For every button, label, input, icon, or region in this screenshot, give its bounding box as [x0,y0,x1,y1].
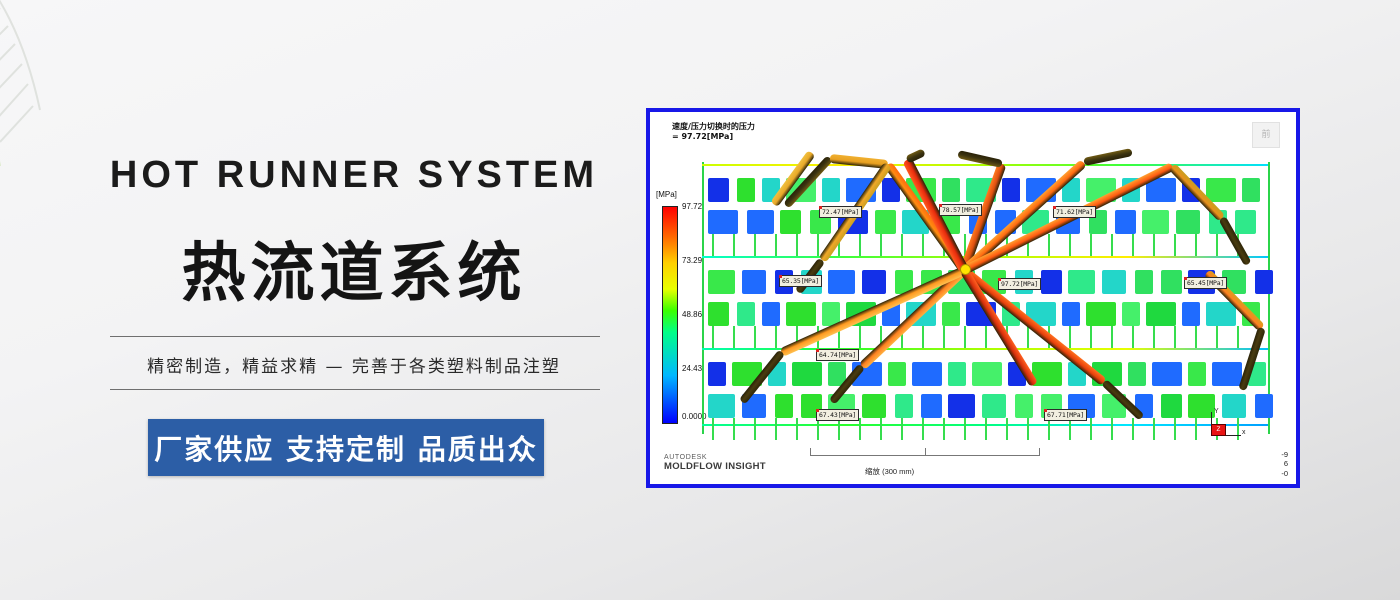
runner-stem [880,418,882,440]
cavity-part [942,302,960,326]
runner-stem [754,326,756,348]
runner-stem [1153,234,1155,256]
runner-stem [796,234,798,256]
cavity-part [982,394,1006,418]
runner-stem [922,234,924,256]
cavity-part [1122,302,1140,326]
runner-stem [733,234,735,256]
axis-label-x: x [1242,429,1246,436]
cavity-part [1255,394,1273,418]
axis-label-y: Y [1214,408,1219,415]
cavity-part [762,302,780,326]
runner-stem [1090,418,1092,440]
runner-stem [1090,326,1092,348]
banner-text-block: HOT RUNNER SYSTEM 热流道系统 精密制造，精益求精 — 完善于各… [0,0,620,600]
coordinate-value-1: 6 [1281,459,1288,468]
cavity-part [1176,210,1200,234]
pressure-probe-label: 78.57[MPa] [939,204,982,216]
runner-stem [922,326,924,348]
runner-stem [1132,418,1134,440]
cavity-part [942,178,960,202]
coordinate-readout: -9 6 -0 [1281,450,1288,478]
cavity-part [912,362,942,386]
legend-unit-label: [MPa] [656,190,677,199]
runner-stem [1027,326,1029,348]
runner-stem [985,418,987,440]
cavity-part [1161,394,1182,418]
runner-stem [775,234,777,256]
cavity-part [1255,270,1273,294]
runner-stem [1174,234,1176,256]
runner-stem [1195,234,1197,256]
cavity-part [1102,270,1126,294]
cavity-part [1206,302,1236,326]
runner-stem [1048,418,1050,440]
cavity-part [1062,302,1080,326]
runner-stem [817,234,819,256]
moldflow-screenshot-frame: 速度/压力切换时的压力= 97.72[MPa] 前 [MPa] 97.72 73… [646,108,1300,488]
runner-stem [1237,326,1239,348]
cavity-part [742,270,766,294]
runner-stem [922,418,924,440]
legend-tick-0: 97.72 [682,202,702,211]
cta-button[interactable]: 厂家供应 支持定制 品质出众 [148,419,544,476]
cavity-part [1002,178,1020,202]
cavity-part [875,210,896,234]
runner-stem [1111,326,1113,348]
mold-layout-plot: 72.47[MPa]78.57[MPa]71.62[MPa]65.35[MPa]… [702,152,1272,442]
runner-stem [1111,418,1113,440]
cavity-part [747,210,774,234]
cavity-part [948,394,975,418]
runner-stem [754,234,756,256]
cavity-part [1086,302,1116,326]
pressure-probe-label: 65.35[MPa] [779,275,822,287]
cavity-part [948,362,966,386]
runner-stem [901,418,903,440]
cavity-part [1115,210,1136,234]
cavity-part [1041,270,1062,294]
cavity-part [862,394,886,418]
legend-tick-2: 48.86 [682,310,702,319]
runner-stem [1069,326,1071,348]
cavity-part [1212,362,1242,386]
cavity-part [792,362,822,386]
brand-moldflow: MOLDFLOW INSIGHT [664,462,766,472]
scale-bar-label: 缩放 (300 mm) [865,466,914,477]
runner-stem [817,418,819,440]
runner-stem [1174,326,1176,348]
runner-stem [1006,418,1008,440]
coordinate-value-2: -0 [1281,469,1288,478]
front-view-button[interactable]: 前 [1252,122,1280,148]
cavity-part [862,270,886,294]
runner-stem [964,326,966,348]
divider-top [110,336,600,337]
runner-stem [712,326,714,348]
pressure-probe-label: 67.43[MPa] [816,409,859,421]
cavity-part [708,178,729,202]
runner-stem [985,326,987,348]
runner-stem [901,234,903,256]
runner-stem [880,234,882,256]
subtitle-text: 精密制造，精益求精 — 完善于各类塑料制品注塑 [104,352,604,377]
cavity-part [822,178,840,202]
coordinate-value-0: -9 [1281,450,1288,459]
cavity-part [1128,362,1146,386]
pressure-probe-label: 65.45[MPa] [1184,277,1227,289]
cavity-part [708,270,735,294]
axis-label-z: Z [1211,424,1226,436]
cavity-part [708,302,729,326]
cavity-part [780,210,801,234]
runner-stem [943,326,945,348]
runner-stem [1069,234,1071,256]
runner-stem [733,326,735,348]
runner-stem [796,418,798,440]
page-title-chinese: 热流道系统 [104,222,604,314]
runner-stem [859,234,861,256]
runner-stem [712,418,714,440]
cavity-part [775,394,793,418]
cavity-part [1015,394,1033,418]
hot-runner-bar [905,148,925,163]
cavity-part [1152,362,1182,386]
cavity-part [1242,178,1260,202]
cavity-part [895,394,913,418]
runner-stem [775,326,777,348]
runner-stem [712,234,714,256]
cavity-part [972,362,1002,386]
cavity-part [708,210,738,234]
cavity-part [1161,270,1182,294]
cavity-part [1146,302,1176,326]
divider-bottom [110,389,600,390]
hot-runner-bar [830,154,889,169]
page-title-english: HOT RUNNER SYSTEM [104,154,604,197]
axis-triad: Y x Z [1210,408,1252,450]
cavity-part [708,362,726,386]
runner-stem [1027,418,1029,440]
cavity-part [828,270,855,294]
cavity-part [708,394,735,418]
runner-stem [1132,234,1134,256]
runner-stem [1195,418,1197,440]
runner-stem [1132,326,1134,348]
runner-stem [838,418,840,440]
runner-stem [964,418,966,440]
cavity-part [1068,270,1095,294]
cavity-part [888,362,906,386]
cavity-part [737,302,755,326]
cavity-part [786,302,816,326]
runner-stem [733,418,735,440]
runner-stem [1090,234,1092,256]
runner-stem [775,418,777,440]
runner-stem [1111,234,1113,256]
cavity-part [1235,210,1256,234]
pressure-probe-label: 67.71[MPa] [1044,409,1087,421]
result-header: 速度/压力切换时的压力= 97.72[MPa] [672,122,755,142]
runner-stem [1195,326,1197,348]
runner-stem [859,326,861,348]
cavity-part [1142,210,1169,234]
runner-stem [859,418,861,440]
cavity-part [1206,178,1236,202]
cavity-part [1182,302,1200,326]
cavity-part [1188,362,1206,386]
legend-tick-1: 73.29 [682,256,702,265]
runner-stem [1153,326,1155,348]
sprue-node [960,264,971,275]
pressure-probe-label: 72.47[MPa] [819,206,862,218]
pressure-probe-label: 64.74[MPa] [816,349,859,361]
scale-bar [810,448,1040,462]
cavity-part [737,178,755,202]
cavity-part [921,394,942,418]
runner-stem [1216,234,1218,256]
cavity-part [1135,270,1153,294]
autodesk-branding: AUTODESK MOLDFLOW INSIGHT [664,454,766,472]
simulation-canvas[interactable]: 速度/压力切换时的压力= 97.72[MPa] 前 [MPa] 97.72 73… [650,112,1296,484]
runner-stem [754,418,756,440]
color-legend-bar [662,206,678,424]
pressure-probe-label: 97.72[MPa] [998,278,1041,290]
legend-tick-3: 24.43 [682,364,702,373]
runner-stem [1069,418,1071,440]
runner-stem [1153,418,1155,440]
runner-stem [1216,326,1218,348]
pressure-probe-label: 71.62[MPa] [1053,206,1096,218]
runner-stem [1174,418,1176,440]
runner-stem [1048,234,1050,256]
runner-stem [943,418,945,440]
